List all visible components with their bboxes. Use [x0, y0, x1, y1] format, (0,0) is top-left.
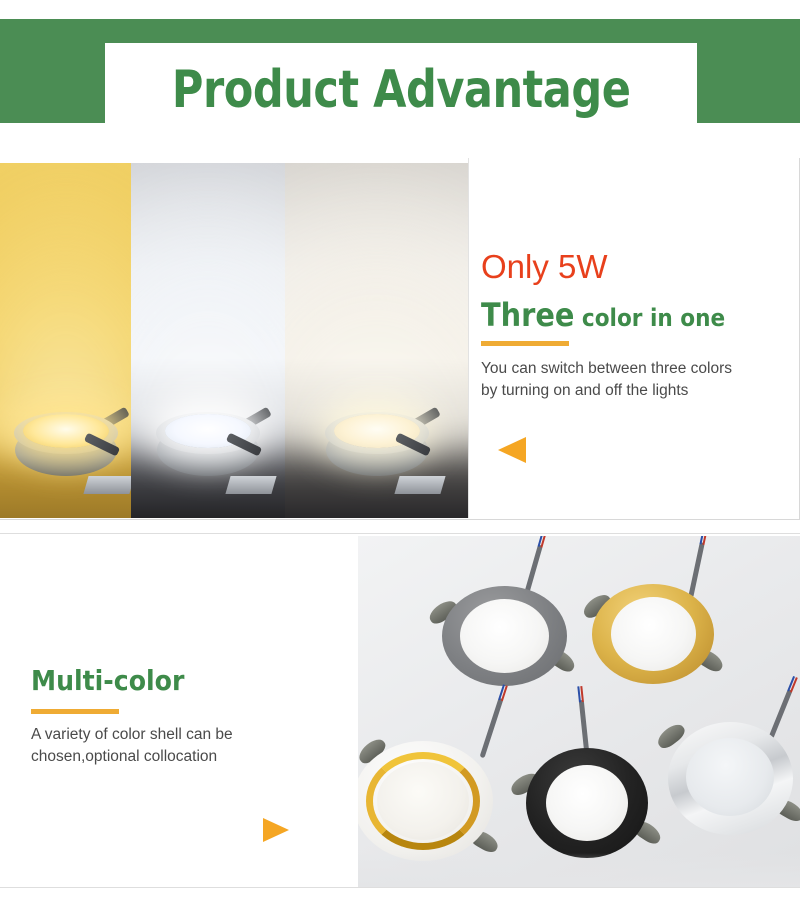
- header-white-panel: Product Advantage: [105, 43, 697, 137]
- beam-panel-cool-white: [131, 163, 285, 518]
- fixture-base: [83, 476, 131, 494]
- downlight-fixture-natural: [317, 406, 437, 492]
- downlight-gray: [442, 586, 567, 686]
- downlight-white-gold-ring: [358, 741, 493, 861]
- wire: [480, 698, 504, 759]
- description-line-2: by turning on and off the lights: [481, 380, 797, 402]
- multi-color-feature-section: Multi-color A variety of color shell can…: [0, 533, 800, 888]
- downlight-black: [526, 748, 648, 858]
- beam-panel-natural-white: [285, 163, 468, 518]
- power-headline: Only 5W: [481, 250, 608, 283]
- page-title: Product Advantage: [172, 60, 631, 120]
- wire: [688, 542, 705, 598]
- triangle-left-icon: [498, 437, 526, 463]
- downlight-color-shells-photo: [358, 536, 800, 887]
- lamp-face: [377, 762, 469, 840]
- fixture-base: [225, 476, 276, 494]
- lamp-face: [460, 599, 549, 673]
- lamp-face: [546, 765, 628, 841]
- description-line-2: chosen,optional collocation: [31, 746, 301, 768]
- multi-color-title: Multi-color: [31, 667, 184, 695]
- wire: [768, 689, 792, 739]
- accent-rule: [481, 341, 569, 346]
- downlight-gold: [592, 584, 714, 684]
- triangle-right-icon: [263, 818, 289, 842]
- lamp-face: [611, 597, 696, 671]
- photo-divider: [468, 158, 469, 518]
- lamp-face: [686, 738, 774, 816]
- fixture-base: [394, 476, 445, 494]
- three-color-headline: Three color in one: [481, 299, 725, 331]
- three-color-description: You can switch between three colors by t…: [481, 358, 797, 402]
- downlight-chrome: [668, 722, 793, 835]
- photo-floor-shade: [358, 853, 800, 887]
- three-color-feature-section: Only 5W Three color in one You can switc…: [0, 158, 800, 520]
- multi-color-description: A variety of color shell can be chosen,o…: [31, 724, 301, 768]
- headline-emphasis: Three: [481, 296, 574, 334]
- headline-rest: color in one: [574, 304, 725, 332]
- description-line-1: A variety of color shell can be: [31, 724, 301, 746]
- description-line-1: You can switch between three colors: [481, 358, 797, 380]
- three-color-beam-photo: [0, 163, 468, 518]
- downlight-fixture-cool: [148, 406, 268, 492]
- beam-panel-warm-white: [0, 163, 131, 518]
- downlight-fixture-warm: [6, 406, 126, 492]
- accent-rule: [31, 709, 119, 714]
- header-green-band: Product Advantage: [0, 19, 800, 123]
- product-advantage-page: Product Advantage: [0, 0, 800, 901]
